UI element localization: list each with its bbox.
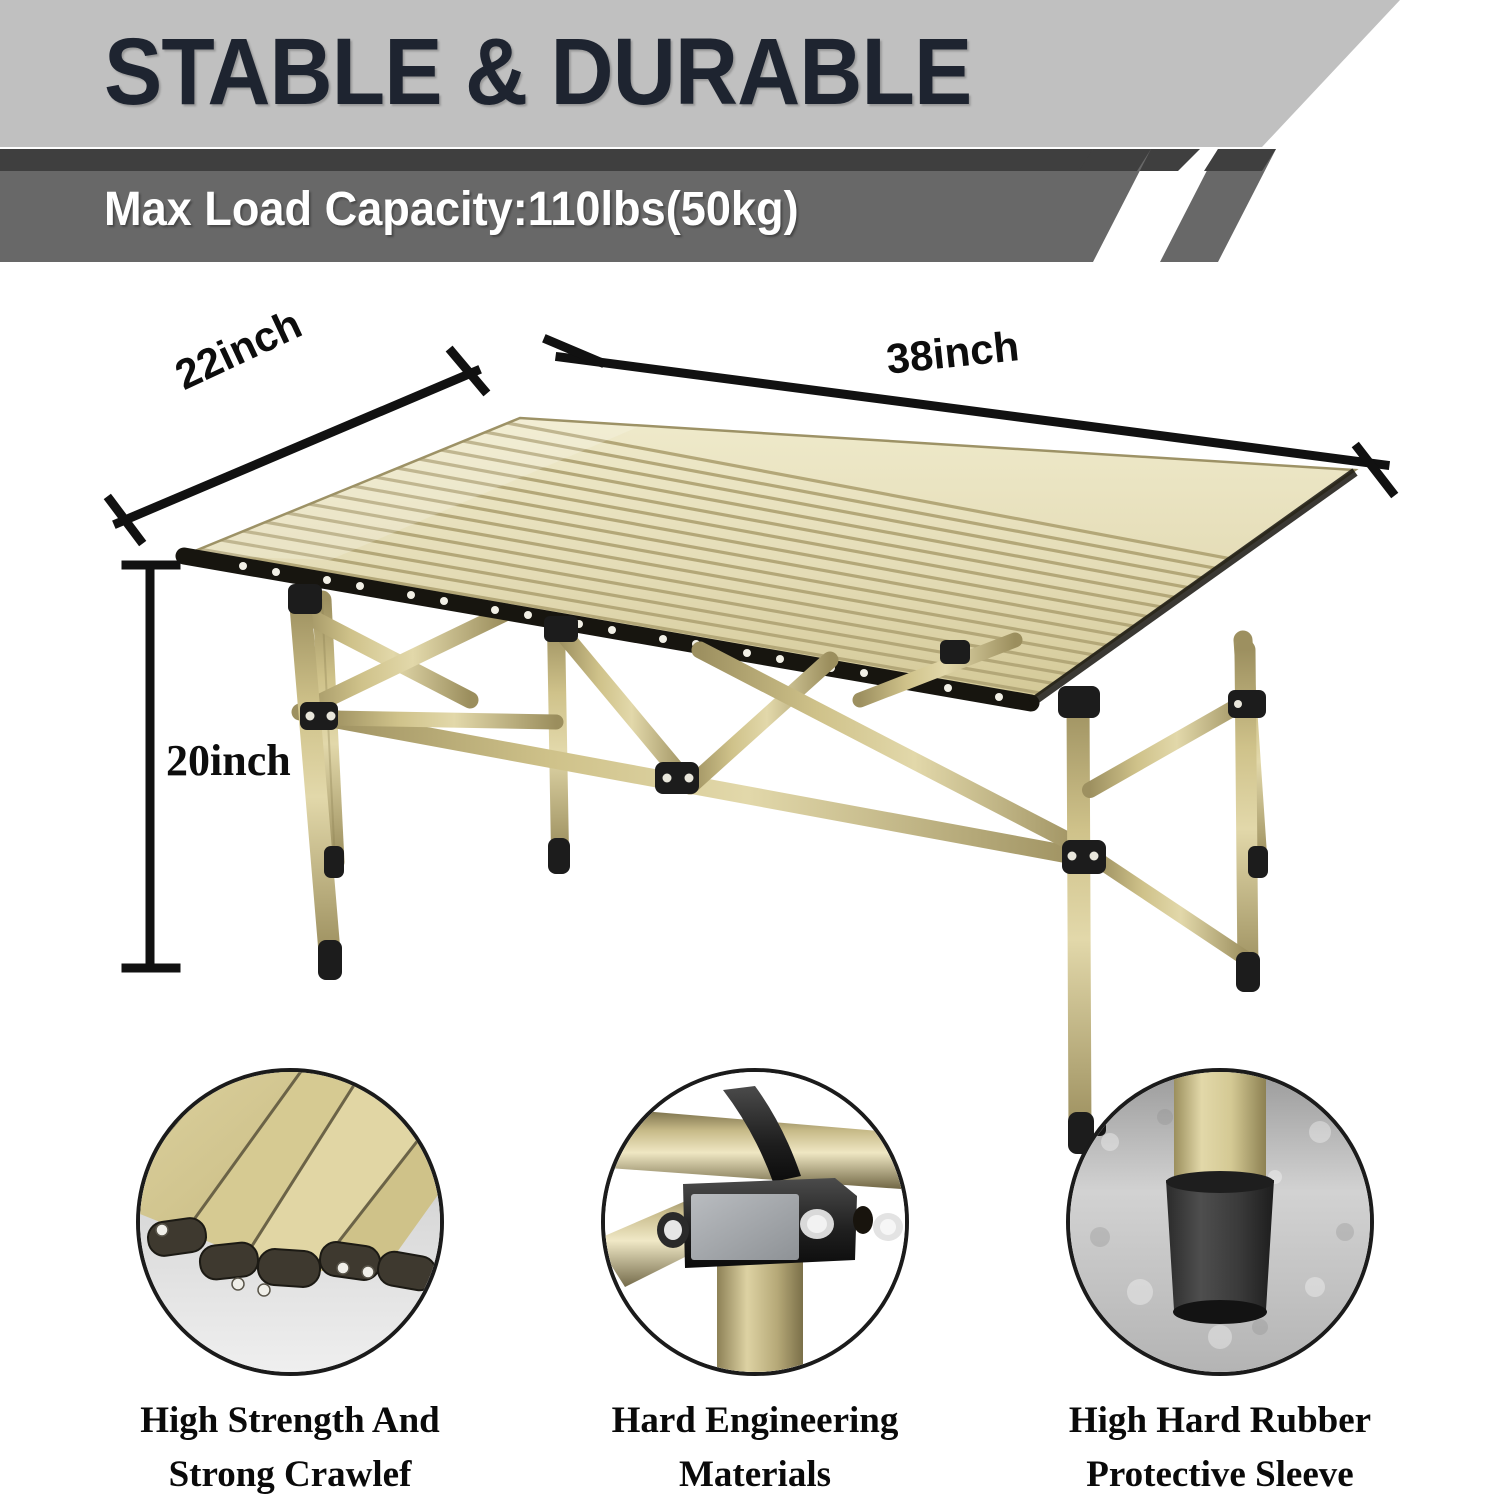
feature-crawler-hinge: High Strength And Strong Crawlef (55, 1068, 525, 1502)
feature-engineering-joint: Hard Engineering Materials (520, 1068, 990, 1502)
feature-caption: Hard Engineering Materials (520, 1394, 990, 1502)
caption-line-1: High Hard Rubber (985, 1394, 1455, 1448)
slat-hinge-icon (136, 1068, 444, 1376)
feature-caption: High Strength And Strong Crawlef (55, 1394, 525, 1502)
joint-connector (288, 584, 322, 614)
feature-callout-row: High Strength And Strong Crawlef (0, 1068, 1498, 1498)
feature-caption: High Hard Rubber Protective Sleeve (985, 1394, 1455, 1502)
caption-line-2: Strong Crawlef (55, 1448, 525, 1502)
plastic-joint-icon (601, 1068, 909, 1376)
caption-line-1: High Strength And (55, 1394, 525, 1448)
rubber-sleeve-icon (1066, 1068, 1374, 1376)
caption-line-1: Hard Engineering (520, 1394, 990, 1448)
dimension-label-height: 20inch (166, 735, 291, 786)
feature-rubber-sleeve: High Hard Rubber Protective Sleeve (985, 1068, 1455, 1502)
infographic-canvas: STABLE & DURABLE Max Load Capacity:110lb… (0, 0, 1498, 1498)
caption-line-2: Materials (520, 1448, 990, 1502)
caption-line-2: Protective Sleeve (985, 1448, 1455, 1502)
